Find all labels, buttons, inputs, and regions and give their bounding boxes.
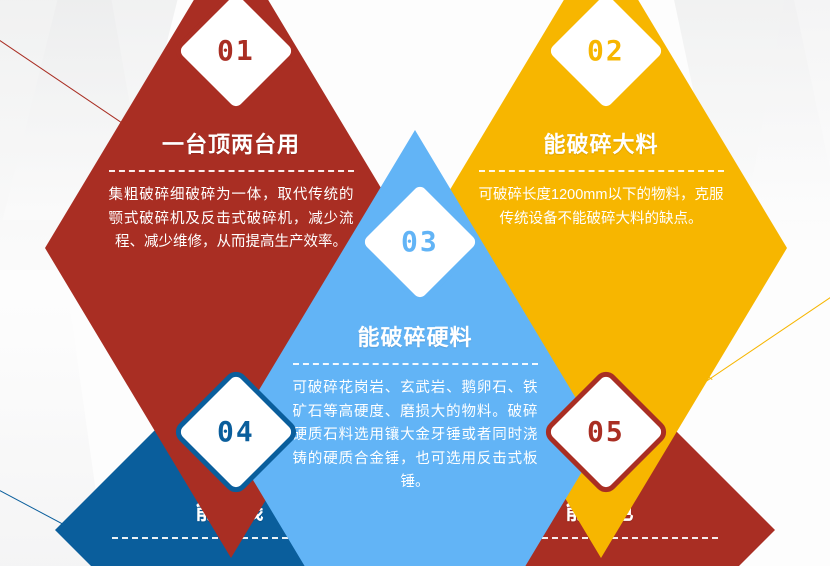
panel-03: 能破碎硬料 可破碎花岗岩、玄武岩、鹅卵石、铁矿石等高硬度、磨损大的物料。破碎硬质… — [229, 326, 601, 495]
badge-05-number: 05 — [587, 418, 625, 446]
badge-01-number: 01 — [217, 37, 255, 65]
panel-02: 能破碎大料 可破碎长度1200mm以下的物料，克服传统设备不能破碎大料的缺点。 — [415, 133, 787, 231]
badge-03-number: 03 — [401, 228, 439, 256]
panel-02-title: 能破碎大料 — [543, 133, 658, 157]
panel-01-divider — [109, 170, 354, 172]
panel-03-body: 可破碎花岗岩、玄武岩、鹅卵石、铁矿石等高硬度、磨损大的物料。破碎硬质石料选用镶大… — [293, 377, 538, 494]
panel-02-body: 可破碎长度1200mm以下的物料，克服传统设备不能破碎大料的缺点。 — [479, 184, 724, 231]
badge-04-number: 04 — [217, 418, 255, 446]
infographic-canvas: 能省钱 能省电 一台顶两台用 集粗破碎细破碎为一体，取代传统的颚式破碎机及反击式… — [0, 0, 830, 566]
panel-03-divider — [293, 363, 538, 365]
panel-01-body: 集粗破碎细破碎为一体，取代传统的颚式破碎机及反击式破碎机，减少流程、减少维修，从… — [109, 184, 354, 254]
panel-02-divider — [479, 170, 724, 172]
panel-03-title: 能破碎硬料 — [357, 326, 472, 350]
panel-01-title: 一台顶两台用 — [162, 133, 300, 157]
badge-02-number: 02 — [587, 37, 625, 65]
